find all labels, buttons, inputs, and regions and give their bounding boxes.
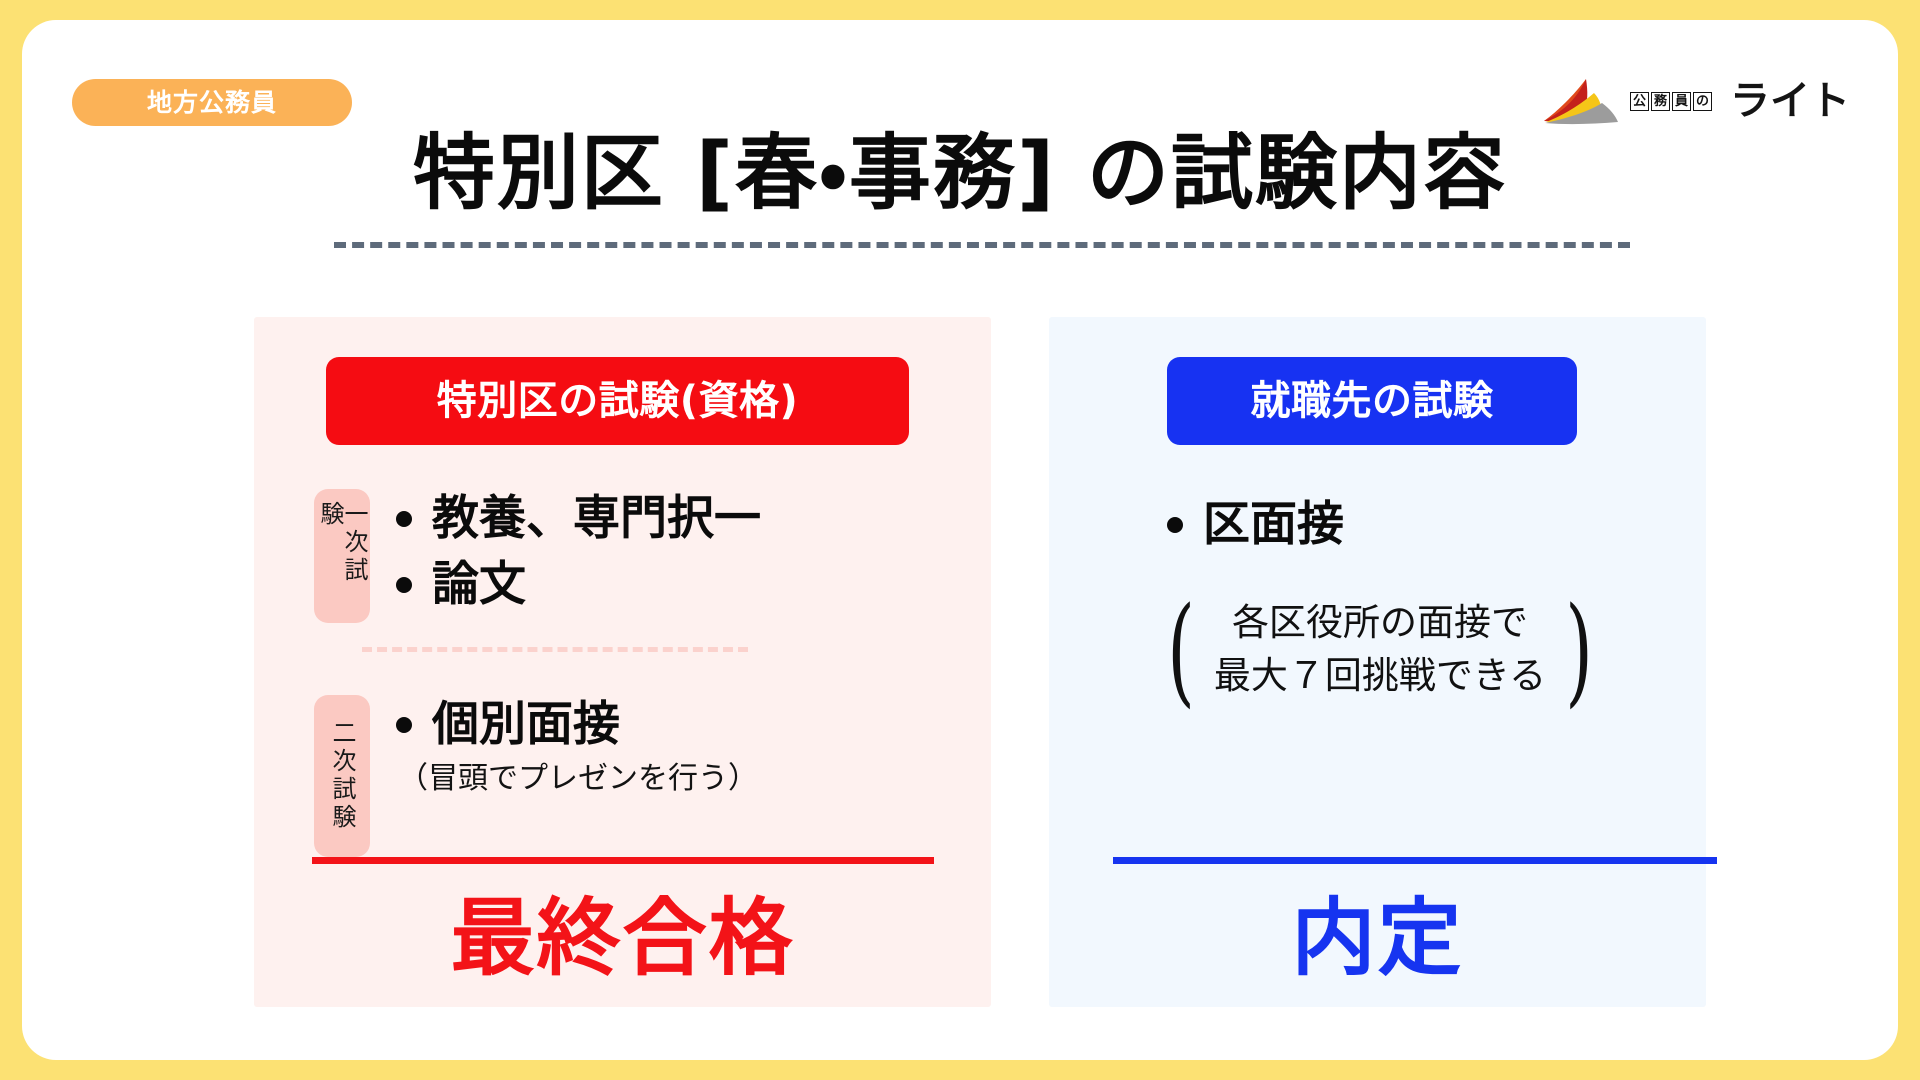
panel-tokubetsuku: 特別区の試験(資格) 一次試験 教養、専門択一 論文 bbox=[254, 317, 991, 1007]
stage-first-exam-tag: 一次試験 bbox=[314, 489, 370, 623]
page-title: 特別区 [春・事務] の試験内容 bbox=[22, 128, 1898, 220]
panel-shushokusaki-heading: 就職先の試験 bbox=[1167, 357, 1577, 445]
stage-first-exam-item-0: 教養、専門択一 bbox=[432, 489, 761, 549]
bullet-dot-icon bbox=[396, 577, 412, 593]
panel-tokubetsuku-heading: 特別区の試験(資格) bbox=[326, 357, 909, 445]
stage-first-exam: 一次試験 教養、専門択一 論文 bbox=[314, 489, 761, 623]
stage-second-exam-tag-label: 二次試験 bbox=[330, 720, 354, 832]
brand-char-2: 員 bbox=[1672, 92, 1691, 111]
bullet-dot-icon bbox=[1167, 517, 1183, 533]
category-badge: 地方公務員 bbox=[72, 79, 352, 126]
brand-char-1: 務 bbox=[1651, 92, 1670, 111]
brand-boxed-chars: 公 務 員 の bbox=[1630, 92, 1712, 111]
brand-char-3: の bbox=[1693, 92, 1712, 111]
paren-note-lines: 各区役所の面接で 最大７回挑戦できる bbox=[1214, 597, 1546, 702]
paren-open: ( bbox=[1167, 604, 1195, 696]
paren-close: ) bbox=[1565, 604, 1593, 696]
list-item: 論文 bbox=[396, 555, 761, 615]
list-item: 個別面接 bbox=[396, 695, 758, 755]
title-divider bbox=[334, 242, 1630, 248]
stage-second-exam-item-0: 個別面接 bbox=[432, 695, 620, 755]
panels-container: 特別区の試験(資格) 一次試験 教養、専門択一 論文 bbox=[254, 317, 1706, 1007]
stage-second-exam-tag: 二次試験 bbox=[314, 695, 370, 857]
page-title-text: 特別区 [春・事務] の試験内容 bbox=[413, 128, 1507, 220]
panel-shushokusaki-item-0: 区面接 bbox=[1203, 495, 1344, 555]
stage-first-exam-item-1: 論文 bbox=[432, 555, 526, 615]
paren-note-line-1: 最大７回挑戦できる bbox=[1214, 650, 1546, 703]
stage-divider bbox=[362, 647, 748, 652]
stage-first-exam-body: 教養、専門択一 論文 bbox=[396, 489, 761, 621]
stage-first-exam-tag-label: 一次試験 bbox=[318, 501, 366, 611]
result-divider-right bbox=[1113, 857, 1717, 864]
result-label-right: 内定 bbox=[1049, 889, 1706, 988]
result-divider-left bbox=[312, 857, 934, 864]
list-item: 区面接 bbox=[1167, 495, 1344, 555]
paren-note-line-0: 各区役所の面接で bbox=[1214, 597, 1546, 650]
panel-shushokusaki: 就職先の試験 区面接 ( 各区役所の面接で 最大７回挑戦できる ) 内定 bbox=[1049, 317, 1706, 1007]
stage-second-exam-list: 個別面接 bbox=[396, 695, 758, 755]
list-item: 教養、専門択一 bbox=[396, 489, 761, 549]
stage-second-exam-body: 個別面接 （冒頭でプレゼンを行う） bbox=[396, 695, 758, 797]
result-label-left: 最終合格 bbox=[254, 889, 991, 988]
brand-logo: 公 務 員 の ライト bbox=[1540, 72, 1850, 130]
brand-char-0: 公 bbox=[1630, 92, 1649, 111]
mountain-logo-icon bbox=[1540, 77, 1618, 125]
brand-wordmark: ライト bbox=[1730, 81, 1850, 121]
stage-first-exam-list: 教養、専門択一 論文 bbox=[396, 489, 761, 615]
panel-tokubetsuku-heading-label: 特別区の試験(資格) bbox=[437, 381, 799, 421]
bullet-dot-icon bbox=[396, 511, 412, 527]
page-card: 地方公務員 公 務 員 の ライト 特別区 [春・事務] の試験内容 特別区の試… bbox=[22, 20, 1898, 1060]
category-badge-label: 地方公務員 bbox=[147, 90, 277, 115]
panel-shushokusaki-heading-label: 就職先の試験 bbox=[1251, 381, 1494, 421]
stage-second-exam: 二次試験 個別面接 （冒頭でプレゼンを行う） bbox=[314, 695, 758, 857]
stage-second-exam-note: （冒頭でプレゼンを行う） bbox=[398, 761, 758, 797]
panel-shushokusaki-note: ( 各区役所の面接で 最大７回挑戦できる ) bbox=[1115, 597, 1645, 702]
bullet-dot-icon bbox=[396, 717, 412, 733]
